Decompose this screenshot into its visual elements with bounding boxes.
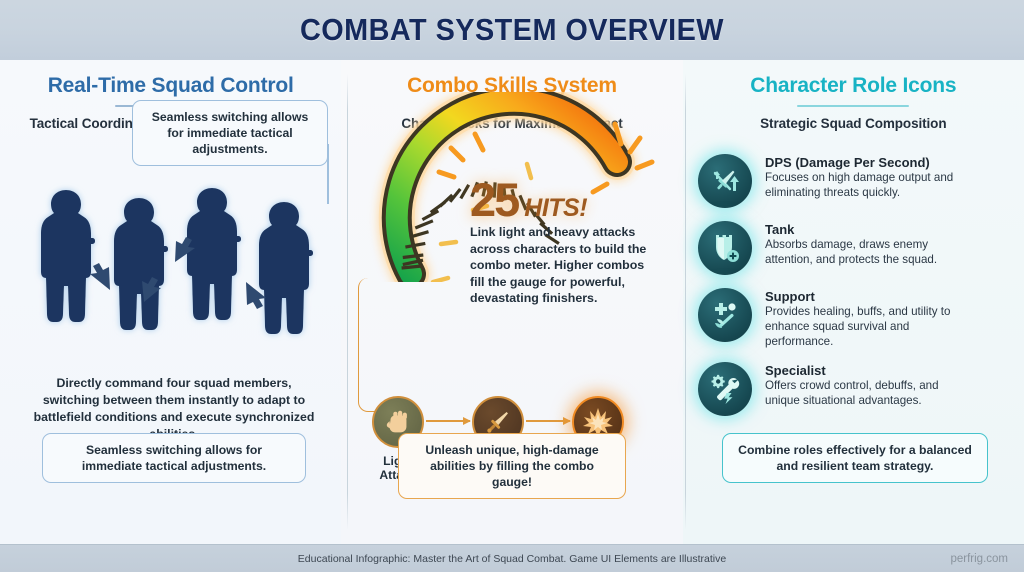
- squad-silhouettes: [14, 162, 334, 362]
- role-item-specialist[interactable]: Specialist Offers crowd control, debuffs…: [698, 360, 1010, 416]
- hits-label: HITS!: [524, 194, 587, 223]
- hits-number: 25: [470, 176, 518, 223]
- squad-svg: [14, 162, 334, 362]
- role-list: DPS (Damage Per Second) Focuses on high …: [698, 152, 1010, 427]
- role-desc-dps: Focuses on high damage output and elimin…: [765, 171, 965, 201]
- column3-subheading: Strategic Squad Composition: [760, 116, 946, 131]
- combo-bottom-callout: Unleash unique, high-damage abilities by…: [398, 433, 626, 499]
- combo-description: Link light and heavy attacks across char…: [470, 224, 656, 307]
- role-item-support[interactable]: Support Provides healing, buffs, and uti…: [698, 286, 1010, 349]
- role-text-tank: Tank Absorbs damage, draws enemy attenti…: [765, 219, 965, 268]
- crossed-swords-icon: [698, 154, 752, 208]
- role-title-tank: Tank: [765, 222, 965, 237]
- infographic-page: COMBAT SYSTEM OVERVIEW Real-Time Squad C…: [0, 0, 1024, 572]
- role-item-dps[interactable]: DPS (Damage Per Second) Focuses on high …: [698, 152, 1010, 208]
- role-text-support: Support Provides healing, buffs, and uti…: [765, 286, 965, 349]
- page-header: COMBAT SYSTEM OVERVIEW: [0, 0, 1024, 60]
- role-title-specialist: Specialist: [765, 363, 965, 378]
- squad-bottom-callout: Seamless switching allows for immediate …: [42, 433, 306, 483]
- role-desc-specialist: Offers crowd control, debuffs, and uniqu…: [765, 379, 965, 409]
- column-divider-2: [685, 74, 686, 530]
- page-title: COMBAT SYSTEM OVERVIEW: [300, 12, 724, 48]
- shield-icon: [698, 221, 752, 275]
- column-divider-1: [347, 74, 348, 530]
- roles-bottom-callout: Combine roles effectively for a balanced…: [722, 433, 988, 483]
- chain-arrow-1: [426, 420, 470, 422]
- role-item-tank[interactable]: Tank Absorbs damage, draws enemy attenti…: [698, 219, 1010, 275]
- combo-hits-counter: 25 HITS!: [470, 176, 660, 223]
- page-footer: Educational Infographic: Master the Art …: [0, 544, 1024, 572]
- role-text-specialist: Specialist Offers crowd control, debuffs…: [765, 360, 965, 409]
- role-title-dps: DPS (Damage Per Second): [765, 155, 965, 170]
- role-desc-support: Provides healing, buffs, and utility to …: [765, 305, 965, 349]
- gear-wrench-icon: [698, 362, 752, 416]
- column1-heading: Real-Time Squad Control: [48, 74, 294, 97]
- gauge-to-chain-connector: [358, 278, 398, 412]
- footer-brand: perfrig.com: [950, 553, 1008, 565]
- role-desc-tank: Absorbs damage, draws enemy attention, a…: [765, 238, 965, 268]
- squad-top-callout: Seamless switching allows for immediate …: [132, 100, 328, 166]
- chain-arrow-2: [526, 420, 570, 422]
- footer-note: Educational Infographic: Master the Art …: [298, 553, 726, 565]
- healing-staff-icon: [698, 288, 752, 342]
- column3-heading: Character Role Icons: [750, 74, 956, 97]
- role-text-dps: DPS (Damage Per Second) Focuses on high …: [765, 152, 965, 201]
- role-title-support: Support: [765, 289, 965, 304]
- column3-rule: [797, 105, 909, 107]
